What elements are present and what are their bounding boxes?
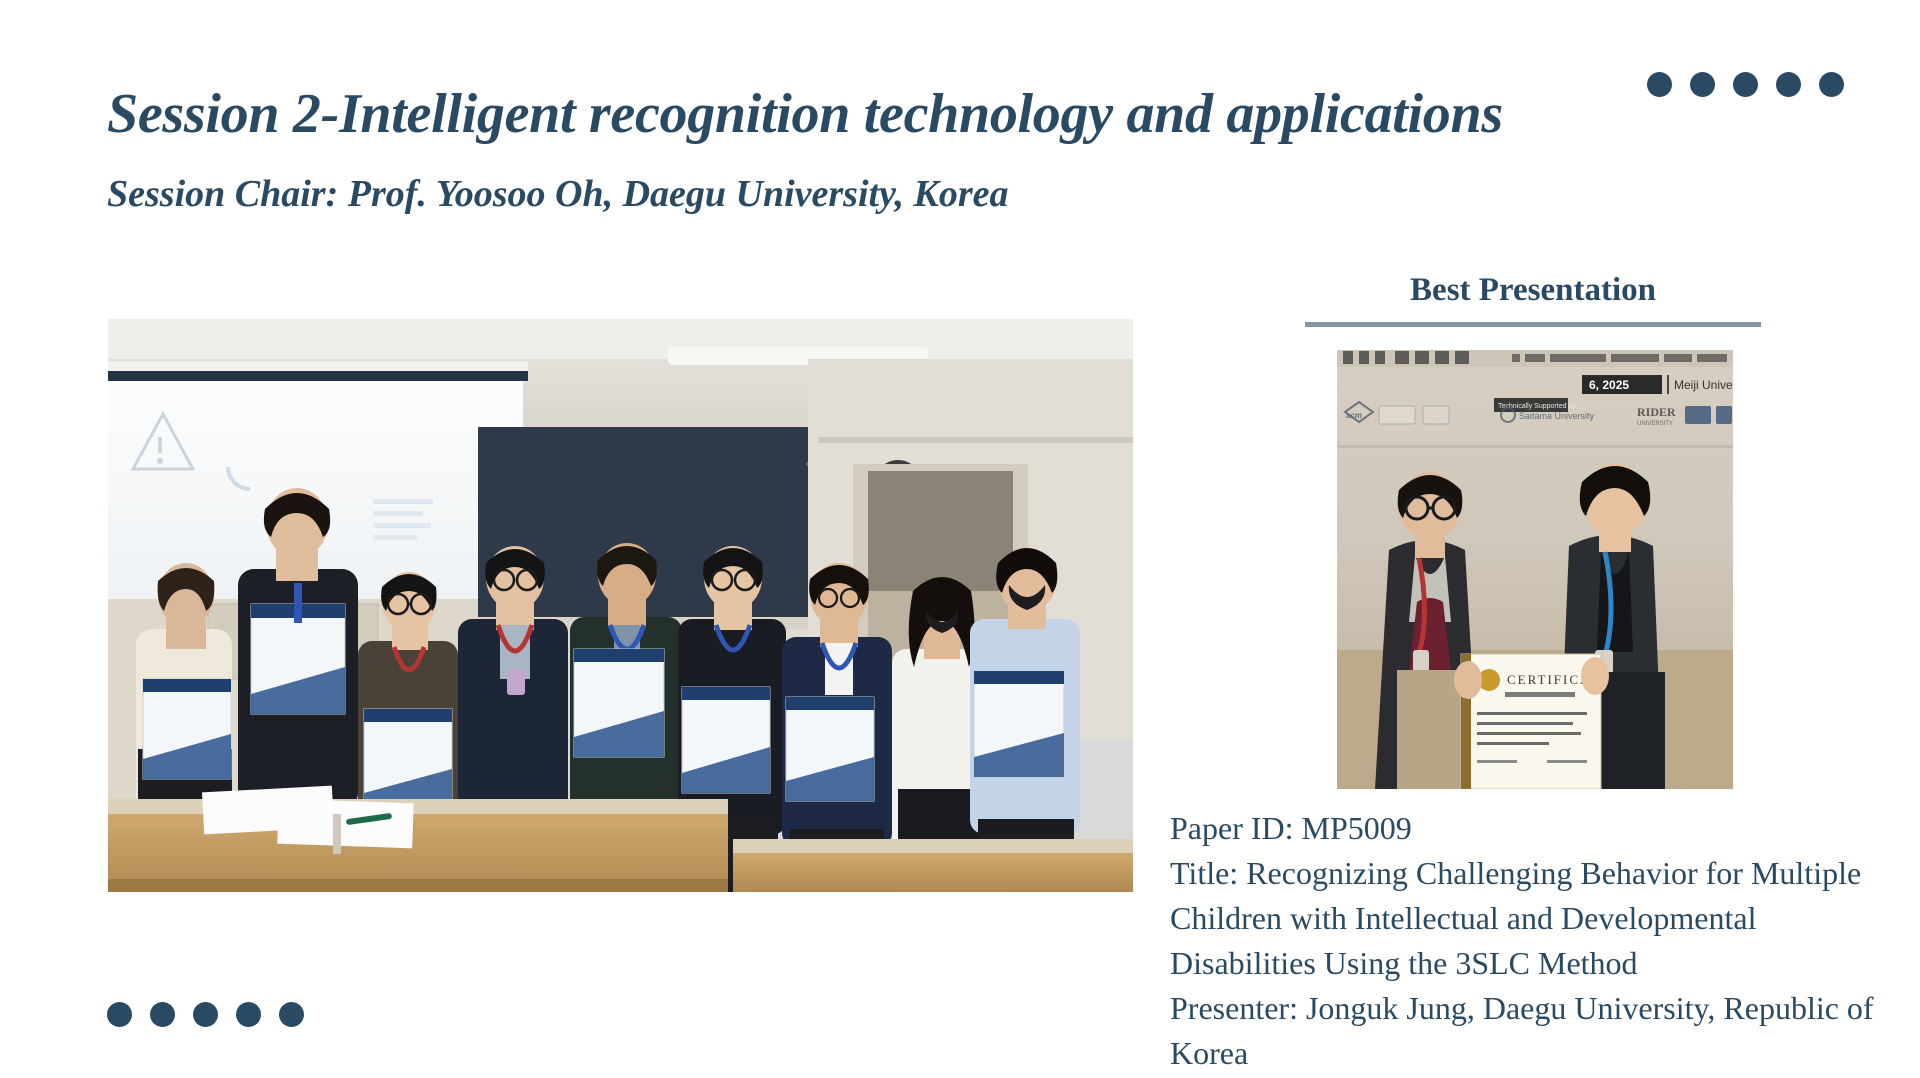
dot-icon — [1776, 72, 1801, 97]
dot-icon — [236, 1002, 261, 1027]
award-ceremony-photo: 6, 2025 Meiji Universi Technically Suppo… — [1337, 350, 1733, 789]
dot-icon — [1733, 72, 1758, 97]
dot-icon — [1647, 72, 1672, 97]
session-chair-subtitle: Session Chair: Prof. Yoosoo Oh, Daegu Un… — [107, 172, 1009, 216]
dot-icon — [1690, 72, 1715, 97]
decorative-dots-top-right — [1647, 72, 1844, 97]
paper-details: Paper ID: MP5009 Title: Recognizing Chal… — [1170, 806, 1890, 1076]
svg-text:RIDER: RIDER — [1637, 405, 1676, 419]
best-presentation-divider — [1305, 322, 1761, 327]
svg-text:UNIVERSITY: UNIVERSITY — [1637, 421, 1673, 427]
dot-icon — [150, 1002, 175, 1027]
paper-presenter-line: Presenter: Jonguk Jung, Daegu University… — [1170, 986, 1890, 1076]
svg-text:Saitama University: Saitama University — [1519, 411, 1595, 421]
paper-title-line: Title: Recognizing Challenging Behavior … — [1170, 851, 1890, 986]
dot-icon — [193, 1002, 218, 1027]
svg-text:6, 2025: 6, 2025 — [1589, 378, 1629, 392]
best-presentation-heading: Best Presentation — [1305, 272, 1761, 309]
group-award-photo — [108, 319, 1133, 892]
decorative-dots-bottom-left — [107, 1002, 304, 1027]
svg-text:Meiji Universi: Meiji Universi — [1674, 378, 1733, 392]
dot-icon — [107, 1002, 132, 1027]
slide-root: Session 2-Intelligent recognition techno… — [0, 0, 1920, 1078]
page-title: Session 2-Intelligent recognition techno… — [107, 82, 1503, 146]
group-photo-illustration — [108, 319, 1133, 892]
award-photo-illustration: 6, 2025 Meiji Universi Technically Suppo… — [1337, 350, 1733, 789]
dot-icon — [279, 1002, 304, 1027]
paper-id-line: Paper ID: MP5009 — [1170, 806, 1890, 851]
svg-text:acm: acm — [1346, 411, 1362, 420]
dot-icon — [1819, 72, 1844, 97]
